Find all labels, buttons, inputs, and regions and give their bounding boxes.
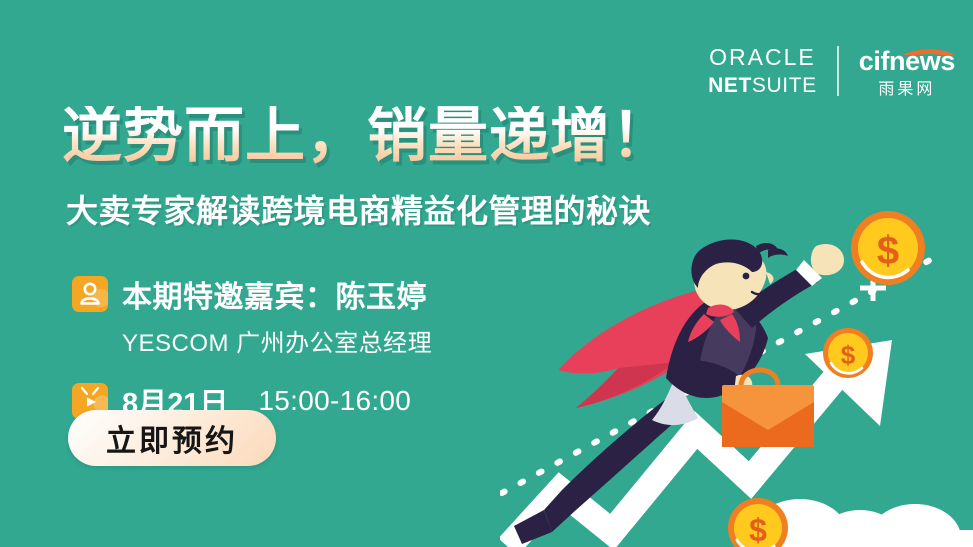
logo-divider xyxy=(837,46,839,96)
cloud-shape xyxy=(752,499,973,547)
svg-text:$: $ xyxy=(841,340,856,370)
guest-row: 本期特邀嘉宾：陈玉婷 xyxy=(72,272,432,316)
cifnews-logo: cifnews 雨果网 xyxy=(859,44,955,98)
netsuite-suite: SUITE xyxy=(752,74,817,97)
svg-text:$: $ xyxy=(749,512,767,547)
netsuite-net: NET xyxy=(708,74,752,97)
coin-large-icon: $ xyxy=(851,211,925,285)
briefcase-icon xyxy=(722,370,814,447)
guest-title: YESCOM 广州办公室总经理 xyxy=(122,323,432,358)
hero-cape xyxy=(558,290,732,408)
logo-bar: ORACLE NETSUITE cifnews 雨果网 xyxy=(708,42,955,100)
hero-head xyxy=(691,240,788,311)
dashed-trajectory-line xyxy=(502,260,930,493)
oracle-wordmark: ORACLE xyxy=(709,46,816,69)
info-block: 本期特邀嘉宾：陈玉婷 YESCOM 广州办公室总经理 8月21日 15:00-1… xyxy=(72,272,432,422)
cape-knot xyxy=(688,305,740,342)
schedule-time: 15:00-16:00 xyxy=(258,385,411,417)
register-now-button[interactable]: 立即预约 xyxy=(68,410,276,466)
headline-main: 逆势而上，销量递增！ xyxy=(62,106,672,166)
hero-legs xyxy=(514,390,686,544)
swoosh-icon xyxy=(895,41,957,55)
headline-subtitle: 大卖专家解读跨境电商精益化管理的秘诀 xyxy=(66,186,651,232)
guest-name: 本期特邀嘉宾：陈玉婷 xyxy=(122,272,427,316)
hero-briefcase-arm xyxy=(692,360,752,396)
hero-illustration: $ $ $ xyxy=(500,180,973,547)
coin-small-icon: $ xyxy=(728,498,788,547)
plus-sign xyxy=(860,275,886,301)
growth-arrow-icon xyxy=(508,340,892,547)
hero-shirt-trim xyxy=(652,378,698,425)
user-icon xyxy=(72,276,108,312)
hero-arm xyxy=(736,244,844,328)
cifnews-wordmark: cifnews xyxy=(859,48,955,75)
hero-torso xyxy=(666,298,768,398)
coin-medium-icon: $ xyxy=(823,328,873,378)
svg-text:$: $ xyxy=(877,229,899,273)
promo-banner: ORACLE NETSUITE cifnews 雨果网 逆势而上，销量递增！ 大… xyxy=(0,0,973,547)
cifnews-chinese-name: 雨果网 xyxy=(878,82,935,98)
netsuite-wordmark: NETSUITE xyxy=(708,75,817,96)
oracle-netsuite-logo: ORACLE NETSUITE xyxy=(708,46,817,96)
